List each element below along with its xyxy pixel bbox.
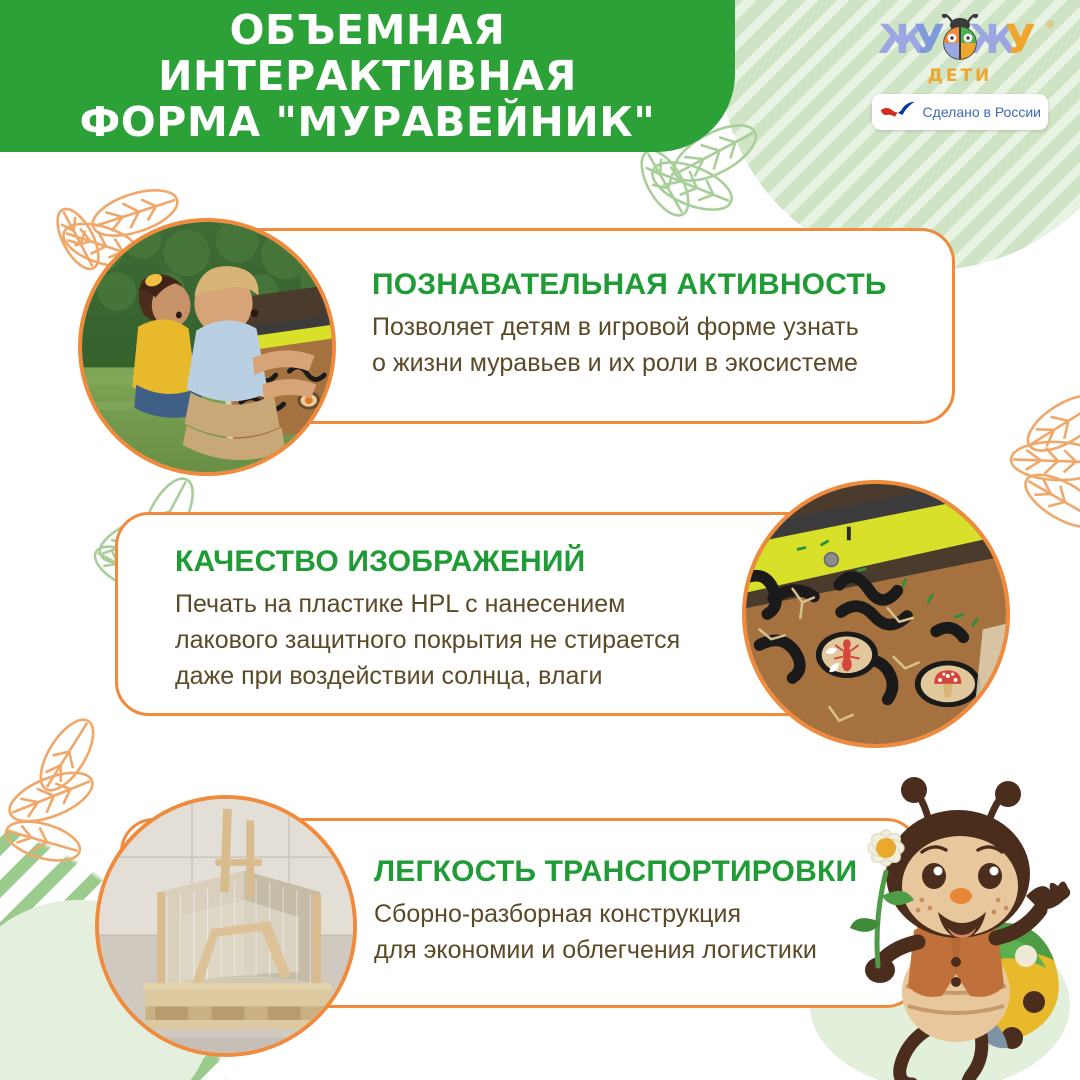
title-line-1: ОБЪЕМНАЯ ИНТЕРАКТИВНАЯ [158, 6, 577, 100]
poster-canvas: ОБЪЕМНАЯ ИНТЕРАКТИВНАЯ ФОРМА "МУРАВЕЙНИК… [0, 0, 1080, 1080]
leaf-cluster-orange-right [975, 385, 1080, 545]
ladybug-mascot [830, 750, 1078, 1080]
feature-card-2-body-line-1: Печать на пластике HPL с нанесением [175, 586, 680, 622]
page-title: ОБЪЕМНАЯ ИНТЕРАКТИВНАЯ ФОРМА "МУРАВЕЙНИК… [0, 7, 735, 146]
header-banner: ОБЪЕМНАЯ ИНТЕРАКТИВНАЯ ФОРМА "МУРАВЕЙНИК… [0, 0, 735, 152]
brand-logo: Ж У Ж У ® [862, 14, 1058, 130]
feature-card-1-body: Позволяет детям в игровой форме узнать о… [372, 309, 887, 381]
feature-card-2-body: Печать на пластике HPL с нанесением лако… [175, 586, 680, 694]
feature-card-3-body-line-2: для экономии и облегчения логистики [374, 932, 857, 968]
feature-card-3-body: Сборно-разборная конструкция для экономи… [374, 896, 857, 968]
feature-card-2-body-line-3: даже при воздействии солнца, влаги [175, 658, 680, 694]
feature-card-1-title: ПОЗНАВАТЕЛЬНАЯ АКТИВНОСТЬ [372, 268, 887, 302]
ladybug-logo-icon [936, 14, 984, 66]
title-line-2: ФОРМА "МУРАВЕЙНИК" [80, 98, 656, 146]
feature-card-1-body-line-2: о жизни муравьев и их роли в экосистеме [372, 345, 887, 381]
made-in-russia-badge: Сделано в России [872, 94, 1048, 130]
feature-photo-children-playing [78, 218, 336, 476]
feature-photo-anthill-closeup [742, 480, 1010, 748]
russia-flag-check-icon [879, 99, 917, 125]
registered-mark: ® [1047, 20, 1054, 31]
feature-card-1-body-line-1: Позволяет детям в игровой форме узнать [372, 309, 887, 345]
feature-card-3-text: ЛЕГКОСТЬ ТРАНСПОРТИРОВКИ Сборно-разборна… [374, 855, 857, 968]
feature-card-2-text: КАЧЕСТВО ИЗОБРАЖЕНИЙ Печать на пластике … [175, 545, 680, 694]
feature-photo-packaged-pallet [95, 795, 357, 1057]
logo-letter-u-2: У [1005, 20, 1036, 60]
feature-card-3-body-line-1: Сборно-разборная конструкция [374, 896, 857, 932]
made-in-russia-label: Сделано в России [923, 104, 1041, 120]
feature-card-2-title: КАЧЕСТВО ИЗОБРАЖЕНИЙ [175, 545, 680, 579]
logo-wordmark: Ж У Ж У ® [862, 14, 1058, 70]
feature-card-2-body-line-2: лакового защитного покрытия не стирается [175, 622, 680, 658]
feature-card-3-title: ЛЕГКОСТЬ ТРАНСПОРТИРОВКИ [374, 855, 857, 889]
feature-card-1-text: ПОЗНАВАТЕЛЬНАЯ АКТИВНОСТЬ Позволяет детя… [372, 268, 887, 381]
